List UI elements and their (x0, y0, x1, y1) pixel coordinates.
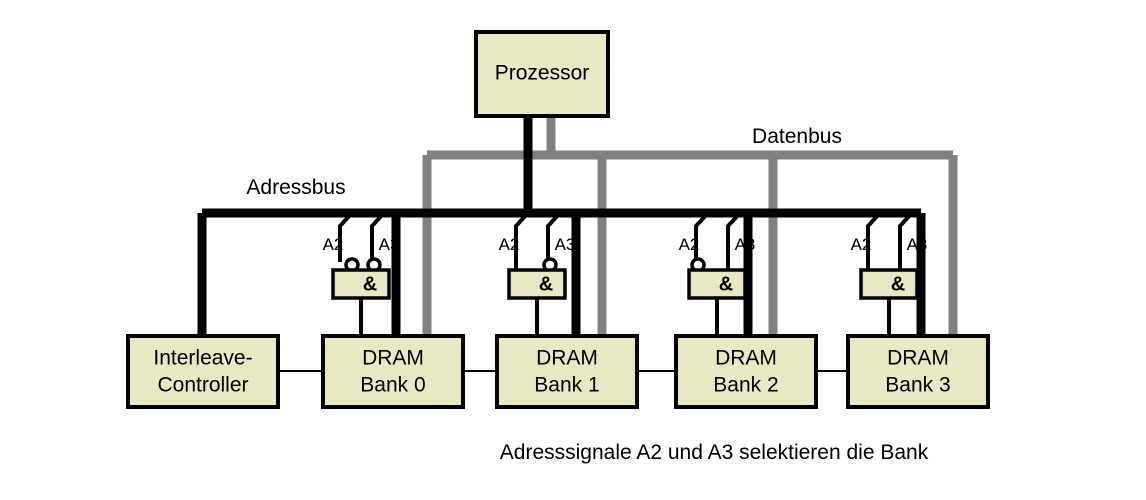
diagram-caption: Adresssignale A2 und A3 selektieren die … (500, 441, 929, 464)
dram-bank-3-box[interactable]: DRAM Bank 3 (848, 336, 988, 407)
bank3-and-gate-symbol: & (891, 273, 905, 295)
bank2-a3-label: A3 (735, 235, 756, 254)
diagram-canvas: Adressbus Datenbus A2 A3 & A2 A3 & A2 A3… (0, 0, 1146, 500)
dram-bank-0-label-line2: Bank 0 (360, 374, 425, 397)
dram-bank-2-label-line2: Bank 2 (713, 374, 778, 397)
dram-bank-3-label-line2: Bank 3 (885, 374, 950, 397)
interleave-controller-label-line2: Controller (157, 374, 248, 397)
bank0-selector-group: A2 A3 & (323, 213, 400, 340)
bank2-and-gate-symbol: & (719, 273, 733, 295)
dram-bank-3-label-line1: DRAM (887, 347, 949, 370)
bank1-a3-label: A3 (555, 235, 576, 254)
interleave-controller-box[interactable]: Interleave- Controller (128, 336, 278, 407)
bank1-and-gate-symbol: & (539, 273, 553, 295)
dram-bank-1-box[interactable]: DRAM Bank 1 (497, 336, 637, 407)
bank2-and-gate-body (689, 270, 745, 298)
dram-bank-1-label-line2: Bank 1 (534, 374, 599, 397)
dram-bank-1-label-line1: DRAM (536, 347, 598, 370)
address-bus-label: Adressbus (246, 176, 345, 199)
bank0-a3-label: A3 (379, 235, 400, 254)
dram-bank-2-box[interactable]: DRAM Bank 2 (676, 336, 816, 407)
dram-bank-0-box[interactable]: DRAM Bank 0 (323, 336, 463, 407)
bank0-and-gate-symbol: & (363, 273, 377, 295)
processor-box[interactable]: Prozessor (476, 32, 608, 116)
bank0-and-gate-body (333, 270, 389, 298)
bank3-selector-group: A2 A3 & (851, 213, 928, 340)
bank3-a2-label: A2 (851, 235, 872, 254)
dram-bank-2-label-line1: DRAM (715, 347, 777, 370)
address-bus-group (202, 116, 921, 340)
bank3-a3-label: A3 (907, 235, 928, 254)
data-bus-label: Datenbus (752, 125, 842, 148)
bank0-a2-label: A2 (323, 235, 344, 254)
bank2-a2-label: A2 (679, 235, 700, 254)
bank3-and-gate-body (861, 270, 917, 298)
data-bus-group (427, 116, 953, 340)
bank1-selector-group: A2 A3 & (499, 213, 576, 340)
interleaving-diagram: Adressbus Datenbus A2 A3 & A2 A3 & A2 A3… (0, 0, 1146, 500)
bank1-and-gate-body (509, 270, 565, 298)
dram-bank-0-label-line1: DRAM (362, 347, 424, 370)
interleave-controller-label-line1: Interleave- (153, 347, 252, 370)
bank1-a2-label: A2 (499, 235, 520, 254)
processor-label: Prozessor (495, 62, 590, 85)
